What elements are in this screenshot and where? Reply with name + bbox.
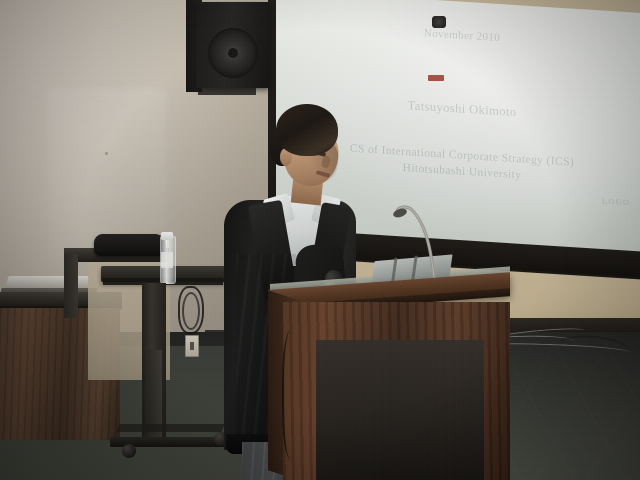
wall-blemish bbox=[105, 152, 108, 155]
water-bottle-label bbox=[161, 252, 173, 268]
cable-near-presenter bbox=[282, 330, 304, 460]
cart-upper-shelf-side bbox=[64, 254, 78, 318]
cart-caster-left bbox=[122, 444, 136, 458]
coiled-cable-inner bbox=[182, 292, 200, 330]
photograph-lecture-hall: November 2010 Tatsuyoshi Okimoto CS of I… bbox=[0, 0, 640, 480]
speaker-cone bbox=[208, 28, 258, 78]
speaker-bottom-shadow bbox=[198, 88, 256, 95]
speaker-brand-logo bbox=[428, 75, 444, 81]
cart-base-rear bbox=[116, 424, 224, 432]
wall-patch bbox=[48, 88, 166, 258]
presenter-hair bbox=[276, 104, 338, 156]
water-bottle-cap bbox=[161, 232, 173, 240]
podium-front-panel bbox=[316, 340, 484, 480]
speaker-tweeter bbox=[432, 16, 446, 28]
power-outlet bbox=[185, 335, 199, 357]
black-bag bbox=[94, 234, 166, 256]
